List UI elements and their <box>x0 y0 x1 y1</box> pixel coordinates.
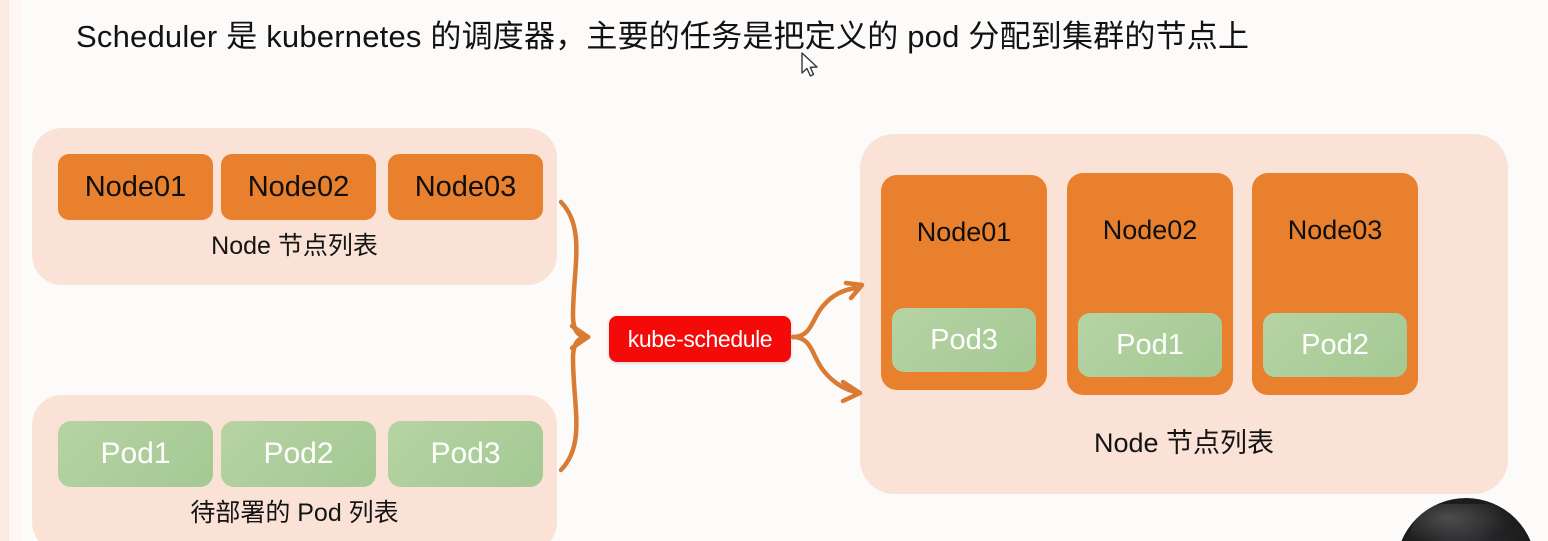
node-card-01-title: Node01 <box>881 217 1047 248</box>
node-card-03[interactable]: Node03 Pod2 <box>1252 173 1418 395</box>
left-pod-list-label: 待部署的 Pod 列表 <box>32 493 557 529</box>
left-edge-strip <box>0 0 9 541</box>
split-arrow-bottom <box>793 337 855 392</box>
pod-chip-3[interactable]: Pod3 <box>388 421 543 487</box>
node-card-01-pod[interactable]: Pod3 <box>892 308 1036 372</box>
slide-canvas: Scheduler 是 kubernetes 的调度器，主要的任务是把定义的 p… <box>0 0 1548 541</box>
node-chip-03[interactable]: Node03 <box>388 154 543 220</box>
merge-arrowhead-icon <box>572 326 588 348</box>
pod-chip-1[interactable]: Pod1 <box>58 421 213 487</box>
right-node-list-label: Node 节点列表 <box>860 421 1508 460</box>
split-arrow-bottom-head-icon <box>843 382 860 401</box>
node-card-03-title: Node03 <box>1252 215 1418 246</box>
merge-arrow-bottom-branch <box>561 337 588 470</box>
left-node-list-panel: Node01 Node02 Node03 Node 节点列表 <box>32 128 557 285</box>
split-arrow-top <box>793 288 855 337</box>
node-card-02[interactable]: Node02 Pod1 <box>1067 173 1233 395</box>
right-node-list-panel: Node01 Pod3 Node02 Pod1 Node03 Pod2 Node… <box>860 134 1508 494</box>
node-card-01[interactable]: Node01 Pod3 <box>881 175 1047 390</box>
node-chip-01[interactable]: Node01 <box>58 154 213 220</box>
node-card-02-title: Node02 <box>1067 215 1233 246</box>
pod-chip-2[interactable]: Pod2 <box>221 421 376 487</box>
node-chip-02[interactable]: Node02 <box>221 154 376 220</box>
presenter-head-icon <box>1396 498 1536 541</box>
merge-arrow-top-branch <box>561 202 588 337</box>
page-title: Scheduler 是 kubernetes 的调度器，主要的任务是把定义的 p… <box>76 14 1249 60</box>
left-node-list-label: Node 节点列表 <box>32 226 557 262</box>
node-card-02-pod[interactable]: Pod1 <box>1078 313 1222 377</box>
left-pod-list-panel: Pod1 Pod2 Pod3 待部署的 Pod 列表 <box>32 395 557 541</box>
mouse-pointer-icon <box>801 52 821 80</box>
node-card-03-pod[interactable]: Pod2 <box>1263 313 1407 377</box>
left-edge-strip-inner <box>9 0 21 541</box>
kube-scheduler-box[interactable]: kube-schedule <box>609 316 791 362</box>
